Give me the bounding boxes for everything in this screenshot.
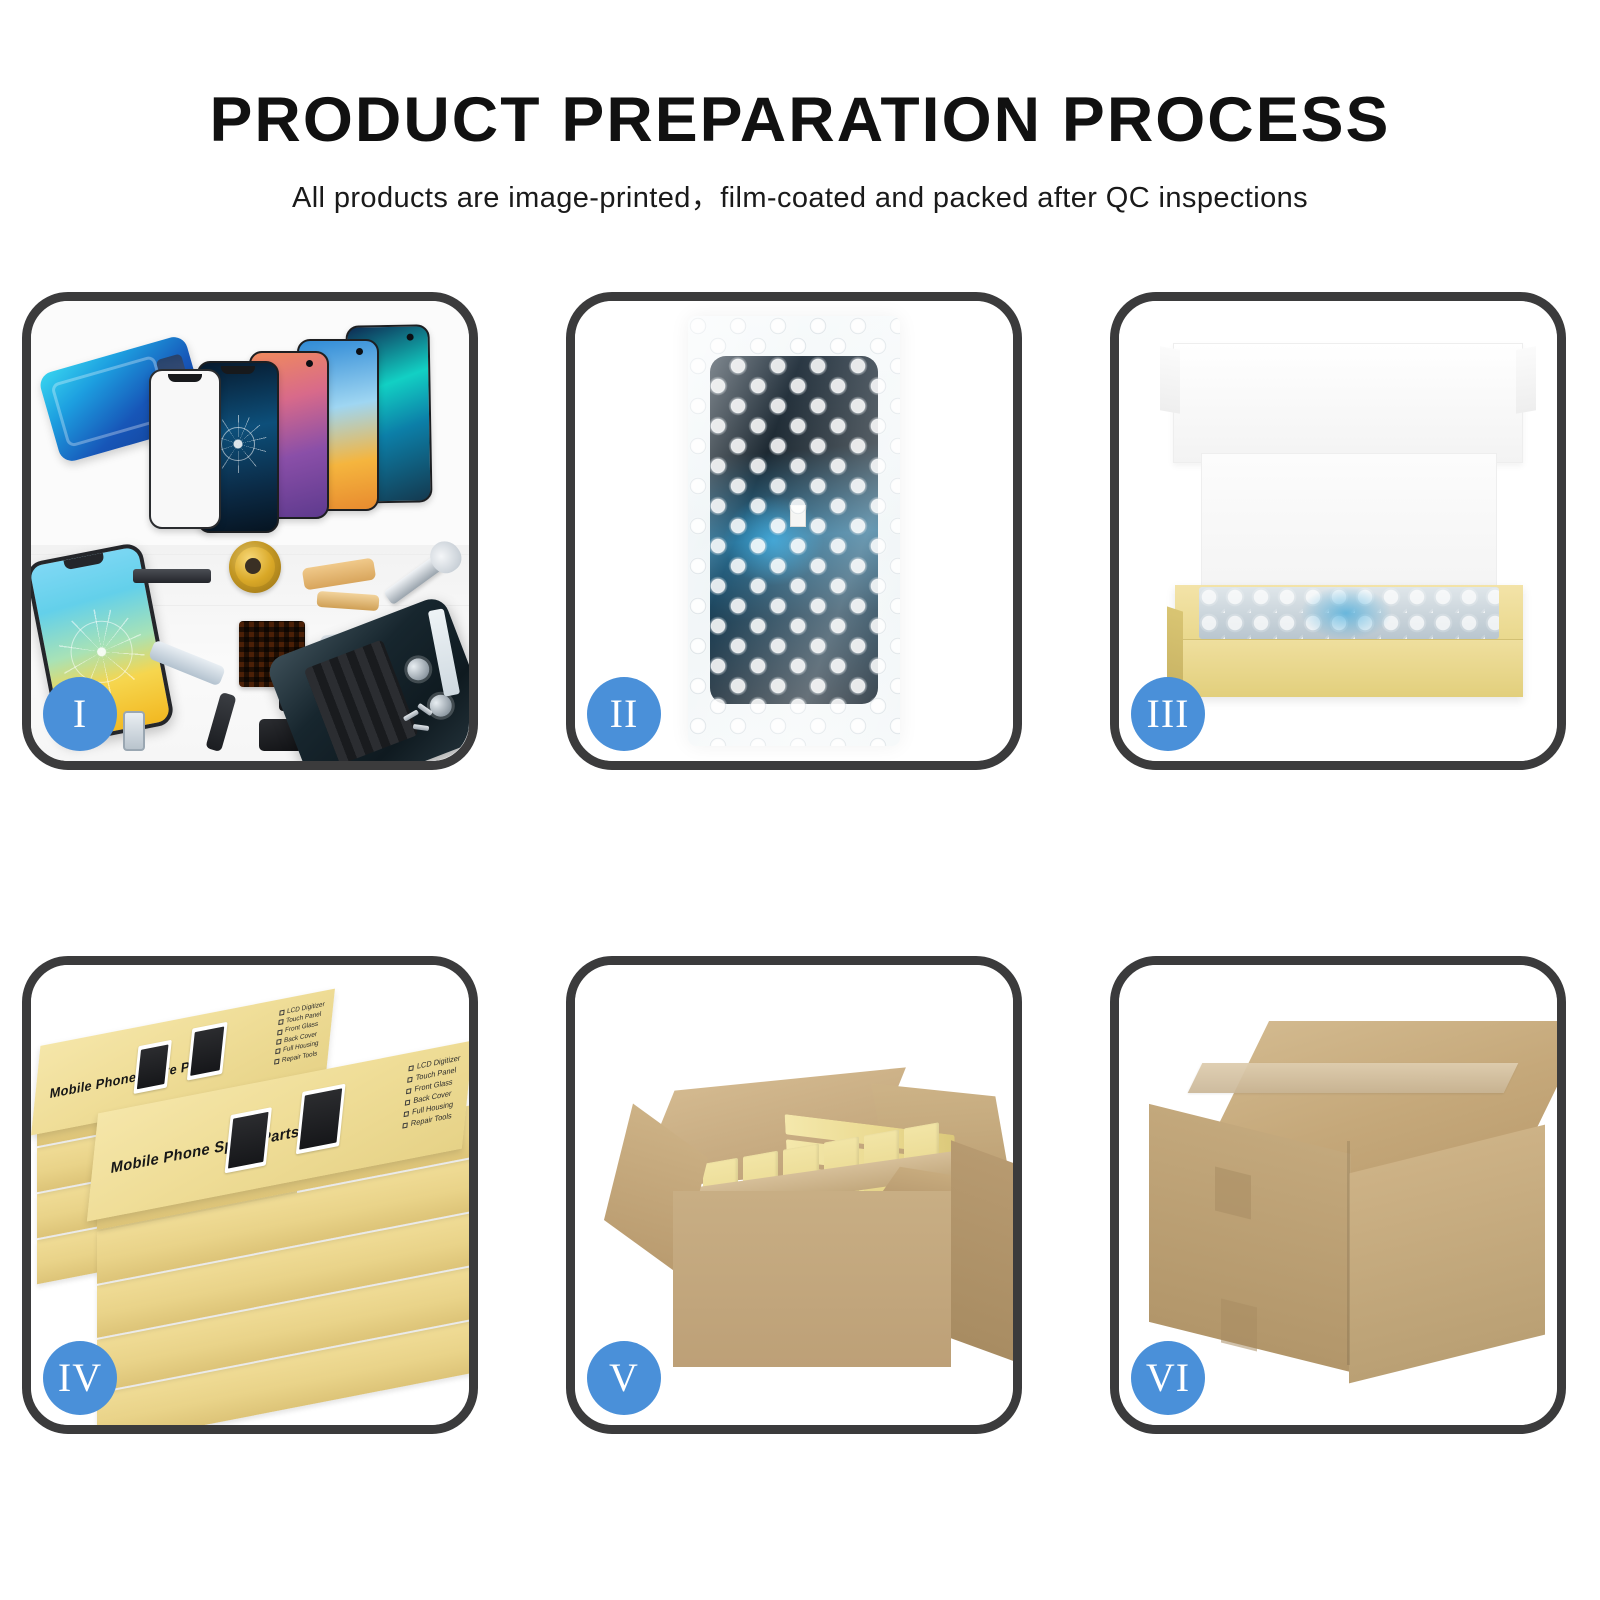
box-checklist: LCD Digitizer Touch Panel Front Glass Ba… xyxy=(274,999,326,1067)
process-step-4: Mobile Phone Spare Parts LCD Digitizer T… xyxy=(22,956,478,1434)
packing-tape-strip xyxy=(1188,1063,1519,1093)
mailer-back-wall xyxy=(1201,453,1497,595)
carton-tape-patch xyxy=(1215,1167,1251,1220)
front-glass-panel xyxy=(149,369,221,529)
box-brand-label: Mobile Phone Spare Parts xyxy=(110,1123,301,1177)
sealed-shipping-carton xyxy=(1149,1021,1547,1387)
infographic-page: PRODUCT PREPARATION PROCESS All products… xyxy=(0,0,1600,1600)
mailer-front-panel xyxy=(1175,639,1523,697)
checkbox-icon xyxy=(405,1099,410,1105)
step-badge-3: III xyxy=(1131,677,1205,751)
checkbox-icon xyxy=(274,1058,279,1064)
checkbox-icon xyxy=(276,1039,281,1045)
process-step-2: II xyxy=(566,292,1022,770)
checkbox-icon xyxy=(279,1009,284,1015)
checkbox-icon xyxy=(278,1019,283,1025)
checkbox-icon xyxy=(409,1066,414,1072)
box-product-thumbnail xyxy=(224,1107,271,1173)
carton-corner-seam xyxy=(1347,1141,1350,1365)
open-shipping-carton xyxy=(617,1043,993,1373)
process-step-grid: I II xyxy=(22,292,1578,1442)
checkbox-icon xyxy=(408,1077,413,1083)
page-subtitle: All products are image-printed，film-coat… xyxy=(0,174,1600,216)
box-product-thumbnail xyxy=(133,1040,171,1094)
step-badge-2: II xyxy=(587,677,661,751)
phone-screen-fan xyxy=(131,321,461,536)
punch-hole-camera-icon xyxy=(356,348,363,355)
checkbox-icon xyxy=(275,1049,280,1055)
notch-icon xyxy=(168,374,202,382)
process-step-5: V xyxy=(566,956,1022,1434)
checkbox-icon xyxy=(406,1088,411,1094)
step-badge-1: I xyxy=(43,677,117,751)
bubble-highlight-layer xyxy=(1199,587,1499,639)
punch-hole-camera-icon xyxy=(407,334,414,341)
process-step-6: VI xyxy=(1110,956,1566,1434)
checkbox-icon xyxy=(403,1122,408,1128)
process-step-1: I xyxy=(22,292,478,770)
sim-tray-component xyxy=(123,711,145,751)
checkbox-icon xyxy=(277,1029,282,1035)
bubble-wrap-package xyxy=(688,316,900,746)
process-step-3: III xyxy=(1110,292,1566,770)
plastic-sheen xyxy=(688,316,900,746)
bubble-wrapped-item-in-box xyxy=(1199,587,1499,639)
box-checklist: LCD Digitizer Touch Panel Front Glass Ba… xyxy=(402,1053,460,1131)
page-title: PRODUCT PREPARATION PROCESS xyxy=(0,84,1600,156)
checkbox-icon xyxy=(404,1111,409,1117)
mailer-lid xyxy=(1173,343,1523,463)
notch-icon xyxy=(221,366,255,374)
page-header: PRODUCT PREPARATION PROCESS All products… xyxy=(0,0,1600,216)
screws-group xyxy=(403,707,447,737)
step-badge-5: V xyxy=(587,1341,661,1415)
step-badge-6: VI xyxy=(1131,1341,1205,1415)
notch-icon xyxy=(63,553,104,570)
box-product-thumbnail xyxy=(296,1083,346,1154)
carton-body xyxy=(673,1191,951,1367)
earpiece-mesh-component xyxy=(133,569,211,583)
carton-tape-patch xyxy=(1221,1299,1257,1352)
step-badge-4: IV xyxy=(43,1341,117,1415)
box-product-thumbnail xyxy=(187,1022,228,1081)
camera-lens-icon xyxy=(404,655,432,683)
punch-hole-camera-icon xyxy=(306,360,313,367)
speaker-component xyxy=(229,541,281,593)
open-mailer-box xyxy=(1165,343,1531,713)
